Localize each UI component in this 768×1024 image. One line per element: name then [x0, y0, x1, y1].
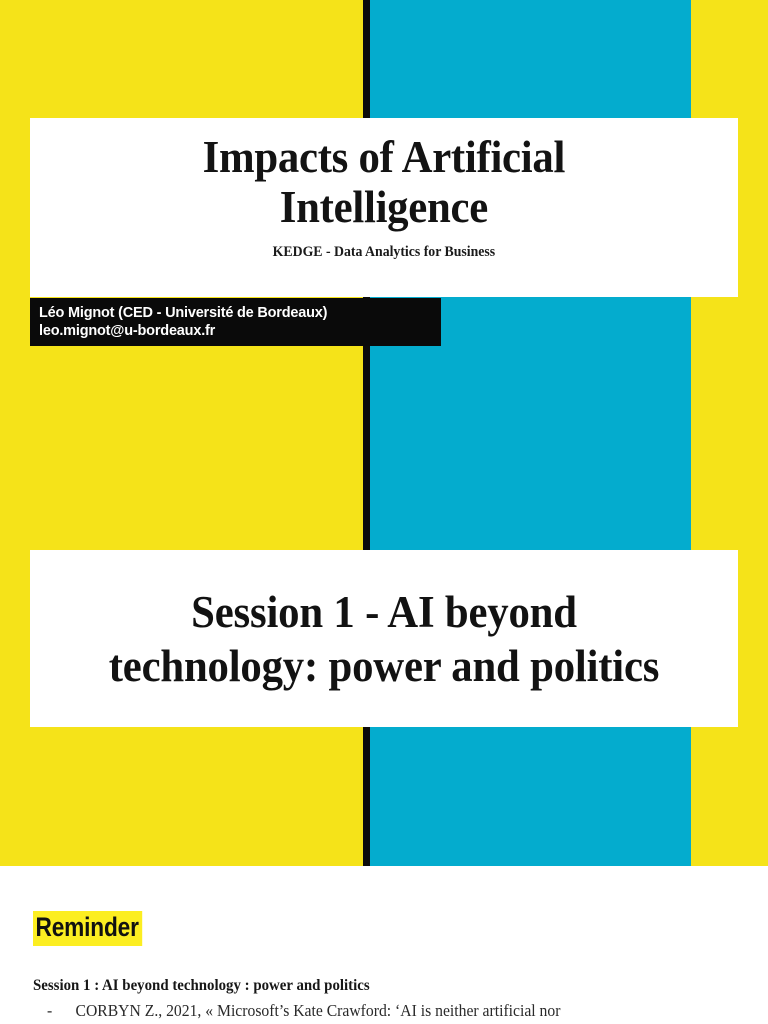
- list-item: -CORBYN Z., 2021, « Microsoft’s Kate Cra…: [47, 1001, 560, 1021]
- document-section-heading: Session 1 : AI beyond technology : power…: [33, 977, 370, 995]
- session-title-line-1: Session 1 - AI beyond: [61, 585, 707, 639]
- document-body: Reminder Session 1 : AI beyond technolog…: [0, 866, 768, 1024]
- reminder-heading: Reminder: [33, 911, 142, 946]
- author-email[interactable]: leo.mignot@u-bordeaux.fr: [39, 322, 441, 340]
- author-name: Léo Mignot (CED - Université de Bordeaux…: [39, 304, 441, 322]
- session-card: Session 1 - AI beyond technology: power …: [30, 550, 738, 727]
- session-title-line-2: technology: power and politics: [61, 639, 707, 693]
- reminder-heading-wrap: Reminder: [33, 911, 163, 946]
- author-bar: Léo Mignot (CED - Université de Bordeaux…: [30, 298, 441, 346]
- title-card: Impacts of Artificial Intelligence KEDGE…: [30, 118, 738, 297]
- slide-title-line-2: Intelligence: [203, 182, 565, 232]
- slide-title: Impacts of Artificial Intelligence: [203, 132, 565, 231]
- bullet-marker: -: [47, 1001, 76, 1021]
- slide-title-line-1: Impacts of Artificial: [203, 132, 565, 182]
- slide-subtitle: KEDGE - Data Analytics for Business: [273, 244, 495, 261]
- slide-canvas: Impacts of Artificial Intelligence KEDGE…: [0, 0, 768, 866]
- session-title: Session 1 - AI beyond technology: power …: [61, 585, 707, 693]
- bullet-text: CORBYN Z., 2021, « Microsoft’s Kate Craw…: [76, 1001, 561, 1020]
